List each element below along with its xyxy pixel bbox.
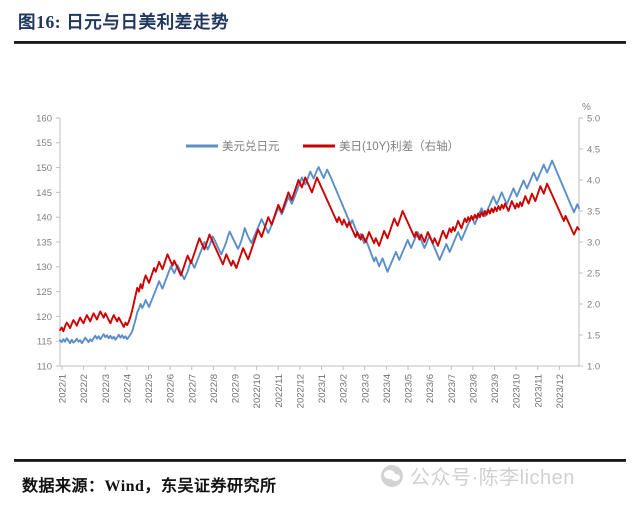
left-tick-label: 155: [36, 138, 52, 149]
chart-legend: 美元兑日元 美日(10Y)利差（右轴）: [186, 139, 459, 153]
right-axis-unit-label: %: [582, 102, 591, 113]
line-chart: 美元兑日元 美日(10Y)利差（右轴） % 110115120125130135…: [0, 46, 640, 456]
x-tick-label: 2022/11: [274, 374, 285, 408]
source-note: 数据来源：Wind，东吴证券研究所: [22, 472, 276, 496]
left-tick-label: 120: [36, 312, 52, 323]
right-tick-label: 2.0: [587, 299, 600, 310]
right-tick-label: 3.0: [587, 237, 600, 248]
left-axis-ticks: 110115120125130135140145150155160: [36, 113, 60, 372]
watermark-text: 公众号·陈李lichen: [410, 461, 575, 490]
watermark: 公众号·陈李lichen: [381, 461, 575, 490]
right-tick-label: 1.0: [587, 361, 600, 372]
left-tick-label: 125: [36, 287, 52, 298]
x-tick-label: 2023/5: [404, 374, 415, 403]
x-tick-label: 2023/3: [360, 374, 371, 403]
x-tick-label: 2022/2: [79, 374, 90, 403]
right-tick-label: 3.5: [587, 206, 600, 217]
left-tick-label: 140: [36, 213, 52, 224]
legend-label-usdjpy: 美元兑日元: [222, 139, 280, 153]
left-tick-label: 160: [36, 113, 52, 124]
series-line-rate-spread: [60, 178, 579, 332]
footer-divider: [14, 459, 626, 462]
x-axis-ticks: 2022/12022/22022/32022/42022/52022/62022…: [58, 366, 566, 408]
left-tick-label: 150: [36, 163, 52, 174]
x-tick-label: 2023/10: [512, 374, 523, 408]
left-tick-label: 115: [37, 337, 52, 348]
x-tick-label: 2023/4: [382, 374, 393, 403]
x-tick-label: 2023/12: [555, 374, 566, 408]
right-tick-label: 1.5: [587, 330, 600, 341]
x-tick-label: 2023/8: [468, 374, 479, 403]
x-tick-label: 2022/6: [166, 374, 177, 403]
wechat-logo-icon: [381, 465, 403, 487]
left-tick-label: 130: [36, 262, 52, 273]
x-tick-label: 2023/2: [339, 374, 350, 403]
x-tick-label: 2023/6: [425, 374, 436, 403]
x-tick-label: 2022/10: [252, 374, 263, 408]
right-tick-label: 4.0: [587, 175, 600, 186]
page-title: 图16: 日元与日美利差走势: [18, 9, 229, 34]
x-tick-label: 2023/11: [533, 374, 544, 408]
x-tick-label: 2022/5: [144, 374, 155, 403]
x-tick-label: 2022/7: [187, 374, 198, 403]
legend-label-rate-spread: 美日(10Y)利差（右轴）: [339, 139, 459, 153]
x-tick-label: 2022/8: [209, 374, 220, 403]
right-tick-label: 5.0: [587, 113, 600, 124]
x-tick-label: 2023/1: [317, 374, 328, 403]
right-tick-label: 2.5: [587, 268, 600, 279]
series-line-usdjpy: [60, 161, 579, 344]
chart-container: 美元兑日元 美日(10Y)利差（右轴） % 110115120125130135…: [0, 46, 640, 456]
x-tick-label: 2023/7: [447, 374, 458, 403]
left-tick-label: 135: [36, 237, 52, 248]
x-tick-label: 2022/9: [231, 374, 242, 403]
x-tick-label: 2022/3: [101, 374, 112, 403]
x-tick-label: 2022/4: [122, 374, 133, 403]
x-tick-label: 2022/1: [58, 374, 69, 403]
header-divider: [14, 41, 626, 44]
x-tick-label: 2022/12: [295, 374, 306, 408]
right-tick-label: 4.5: [587, 144, 600, 155]
right-axis-ticks: 1.01.52.02.53.03.54.04.55.0: [579, 113, 600, 372]
left-tick-label: 110: [37, 361, 52, 372]
x-tick-label: 2023/9: [490, 374, 501, 403]
left-tick-label: 145: [36, 188, 52, 199]
